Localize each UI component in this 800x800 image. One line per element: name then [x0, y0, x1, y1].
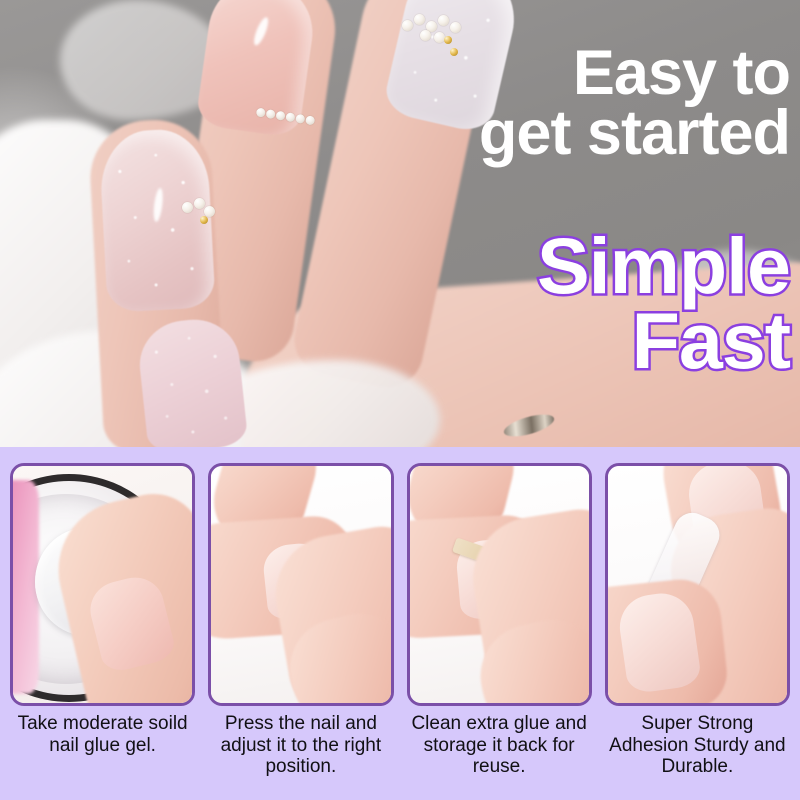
- step-caption-2: Press the nail and adjust it to the righ…: [208, 713, 393, 778]
- step-card-2: [208, 463, 393, 706]
- step-card-1: [10, 463, 195, 706]
- headline-line-1: Easy to: [479, 44, 790, 104]
- step-caption-3: Clean extra glue and storage it back for…: [407, 713, 592, 778]
- step-card-4: [605, 463, 790, 706]
- pearl-cluster: [176, 198, 296, 244]
- step-captions: Take moderate soild nail glue gel. Press…: [10, 713, 790, 778]
- steps-section: Take moderate soild nail glue gel. Press…: [0, 447, 800, 800]
- hero-headline-block: Easy to get started: [479, 44, 790, 164]
- step-card-3: [407, 463, 592, 706]
- hero-subline-block: Simple Fast: [537, 228, 790, 378]
- hero-section: Easy to get started Simple Fast: [0, 0, 800, 447]
- nail-shine: [251, 16, 271, 47]
- headline-line-2: get started: [479, 104, 790, 164]
- product-marketing-image: Easy to get started Simple Fast: [0, 0, 800, 800]
- step-caption-4: Super Strong Adhesion Sturdy and Durable…: [605, 713, 790, 778]
- step-caption-1: Take moderate soild nail glue gel.: [10, 713, 195, 778]
- subline-line-1: Simple: [537, 228, 790, 303]
- step-cards: [10, 463, 790, 706]
- subline-line-2: Fast: [537, 303, 790, 378]
